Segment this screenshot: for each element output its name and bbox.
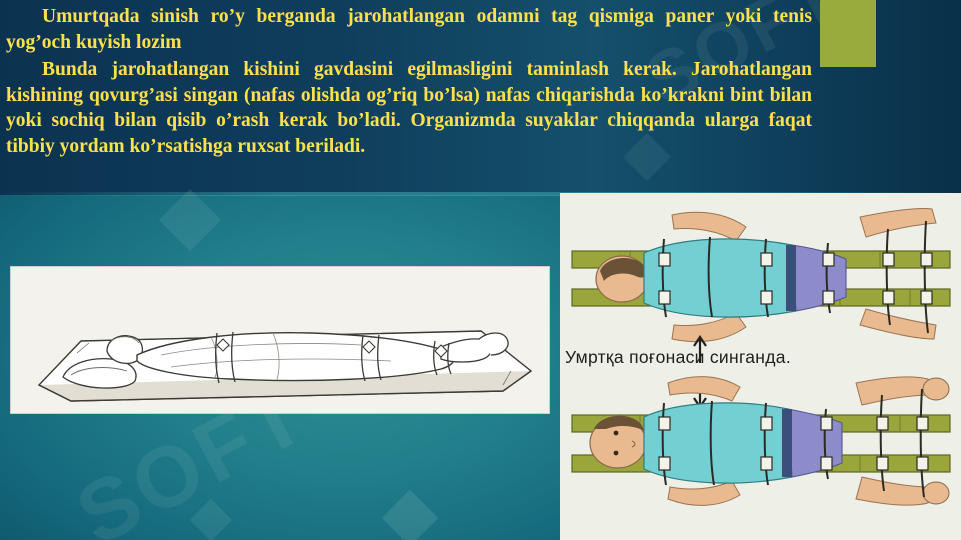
slide-text-body: Umurtqada sinish ro’y berganda jarohatla… [6,4,812,159]
paragraph-2: Bunda jarohatlangan kishini gavdasini eg… [6,57,812,159]
injured-person-on-stretcher-illustration [10,266,550,414]
paragraph-1: Umurtqada sinish ro’y berganda jarohatla… [6,4,812,55]
slide-canvas: SOFT SOFT SOFT Umurtqada sinish ro’y ber… [0,0,961,540]
illustration-caption: Умртқа поғонаси синганда. [565,347,895,368]
accent-block [820,0,876,67]
